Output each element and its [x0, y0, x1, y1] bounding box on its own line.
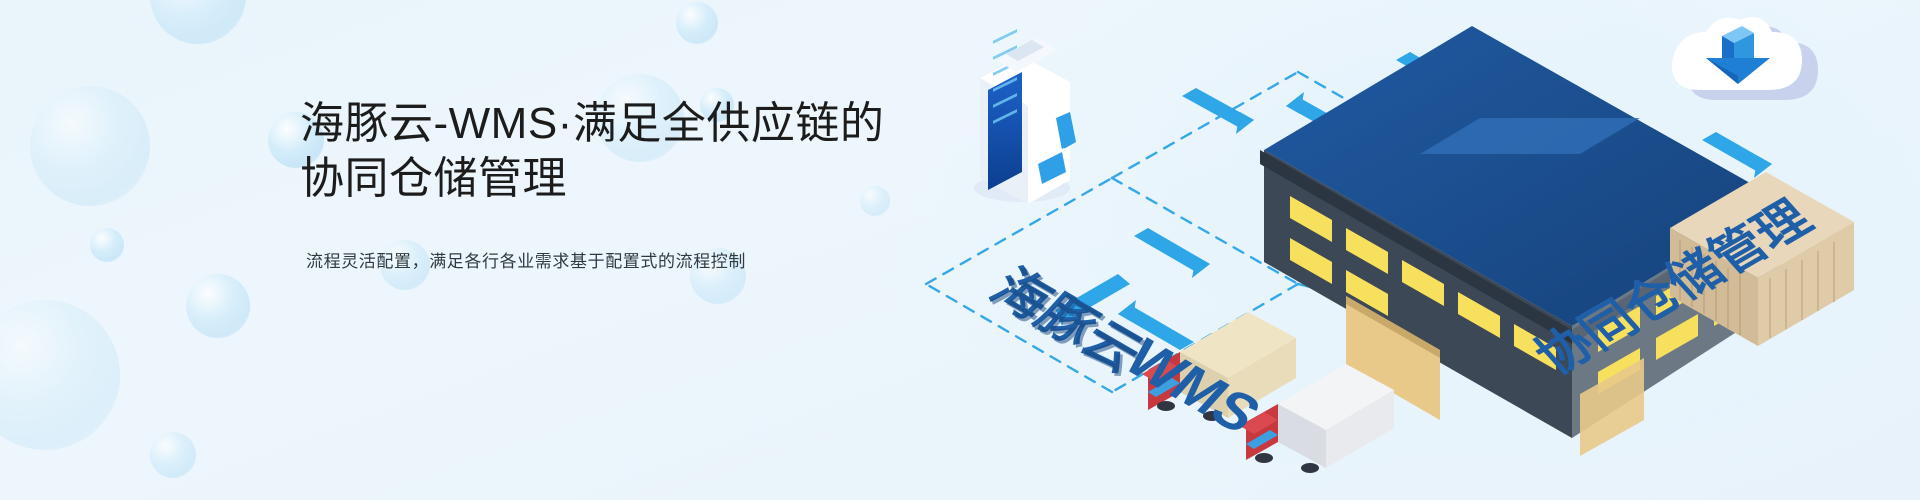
bubble-icon: [30, 86, 150, 206]
bubble-icon: [150, 0, 246, 44]
hero-banner: 海豚云-WMS·满足全供应链的 协同仓储管理 流程灵活配置，满足各行各业需求基于…: [0, 0, 1920, 500]
arrow-icon: [1134, 228, 1210, 278]
bubble-icon: [676, 2, 718, 44]
bubble-icon: [186, 274, 250, 338]
arrow-icon: [1182, 88, 1254, 134]
bubble-icon: [0, 300, 120, 450]
isometric-illustration: 海豚云 海豚云 WMS 协同仓储管理: [880, 0, 1920, 500]
bubble-icon: [90, 228, 124, 262]
page-title: 海豚云-WMS·满足全供应链的 协同仓储管理: [300, 96, 940, 207]
server-rack: [974, 29, 1076, 204]
bubble-icon: [150, 432, 196, 478]
cloud-download-icon: [1672, 17, 1818, 100]
hero-copy: 海豚云-WMS·满足全供应链的 协同仓储管理 流程灵活配置，满足各行各业需求基于…: [300, 96, 940, 272]
page-subtitle: 流程灵活配置，满足各行各业需求基于配置式的流程控制: [306, 247, 940, 272]
